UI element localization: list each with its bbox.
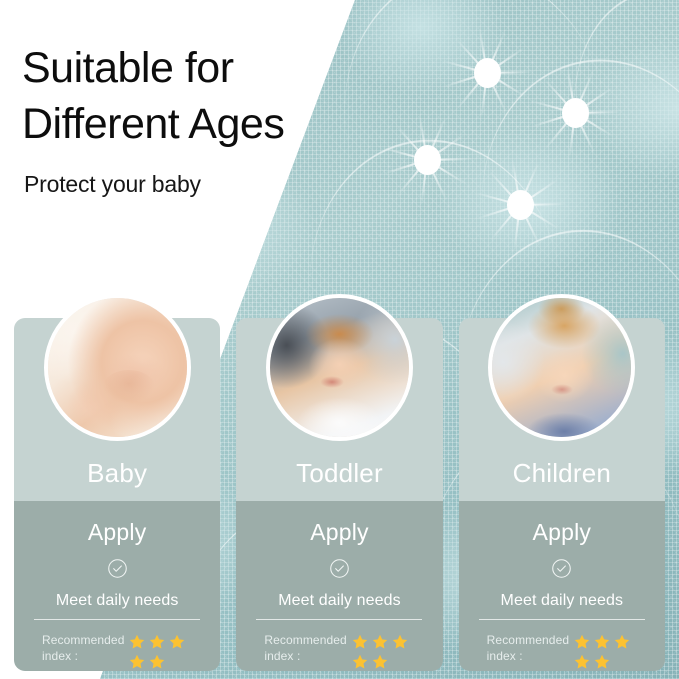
divider <box>34 619 200 620</box>
star-rating <box>351 632 417 671</box>
star-icon <box>128 633 146 651</box>
age-label: Toddler <box>296 458 383 489</box>
rating-row: Recommended index : <box>14 632 220 671</box>
smiling-young-girl-photo <box>492 298 631 437</box>
age-card-children[interactable]: ChildrenApplyMeet daily needsRecommended… <box>459 318 665 671</box>
sleeping-newborn-photo <box>48 298 187 437</box>
check-icon-wrap <box>551 546 572 579</box>
card-bottom-band: ApplyMeet daily needsRecommended index : <box>236 501 442 671</box>
rating-label: Recommended index : <box>487 632 569 664</box>
page-subtitle: Protect your baby <box>24 171 201 198</box>
star-icon <box>371 633 389 651</box>
star-icon <box>573 633 591 651</box>
card-bottom-band: ApplyMeet daily needsRecommended index : <box>459 501 665 671</box>
divider <box>479 619 645 620</box>
star-icon <box>351 653 369 671</box>
divider <box>256 619 422 620</box>
card-bottom-band: ApplyMeet daily needsRecommended index : <box>14 501 220 671</box>
promo-banner: Suitable for Different Ages Protect your… <box>0 0 679 679</box>
tuft-button <box>474 58 501 88</box>
rating-row: Recommended index : <box>459 632 665 671</box>
page-title: Suitable for Different Ages <box>22 40 284 152</box>
apply-label: Apply <box>88 519 147 546</box>
star-icon <box>351 633 369 651</box>
check-icon-wrap <box>329 546 350 579</box>
star-icon <box>391 633 409 651</box>
star-icon <box>573 653 591 671</box>
age-card-list: BabyApplyMeet daily needsRecommended ind… <box>14 318 665 671</box>
avatar <box>44 294 191 441</box>
star-rating <box>128 632 194 671</box>
age-card-toddler[interactable]: ToddlerApplyMeet daily needsRecommended … <box>236 318 442 671</box>
check-circle-icon <box>107 558 128 579</box>
quilt-tuft <box>505 190 535 220</box>
tuft-button <box>562 98 589 128</box>
rating-label: Recommended index : <box>42 632 124 664</box>
star-icon <box>371 653 389 671</box>
needs-label: Meet daily needs <box>56 592 179 610</box>
star-icon <box>148 653 166 671</box>
age-card-baby[interactable]: BabyApplyMeet daily needsRecommended ind… <box>14 318 220 671</box>
quilt-tuft <box>412 145 442 175</box>
quilt-tuft <box>472 58 502 88</box>
rating-label: Recommended index : <box>264 632 346 664</box>
star-icon <box>128 653 146 671</box>
star-icon <box>613 633 631 651</box>
needs-label: Meet daily needs <box>278 592 401 610</box>
quilt-tuft <box>560 98 590 128</box>
check-circle-icon <box>329 558 350 579</box>
check-icon-wrap <box>107 546 128 579</box>
apply-label: Apply <box>310 519 369 546</box>
avatar <box>488 294 635 441</box>
check-circle-icon <box>551 558 572 579</box>
apply-label: Apply <box>533 519 592 546</box>
star-icon <box>148 633 166 651</box>
star-icon <box>593 633 611 651</box>
star-icon <box>593 653 611 671</box>
age-label: Children <box>513 458 611 489</box>
star-icon <box>168 633 186 651</box>
needs-label: Meet daily needs <box>501 592 624 610</box>
rating-row: Recommended index : <box>236 632 442 671</box>
tuft-button <box>414 145 441 175</box>
tuft-button <box>507 190 534 220</box>
star-rating <box>573 632 639 671</box>
smiling-toddler-photo <box>270 298 409 437</box>
avatar <box>266 294 413 441</box>
age-label: Baby <box>87 458 147 489</box>
